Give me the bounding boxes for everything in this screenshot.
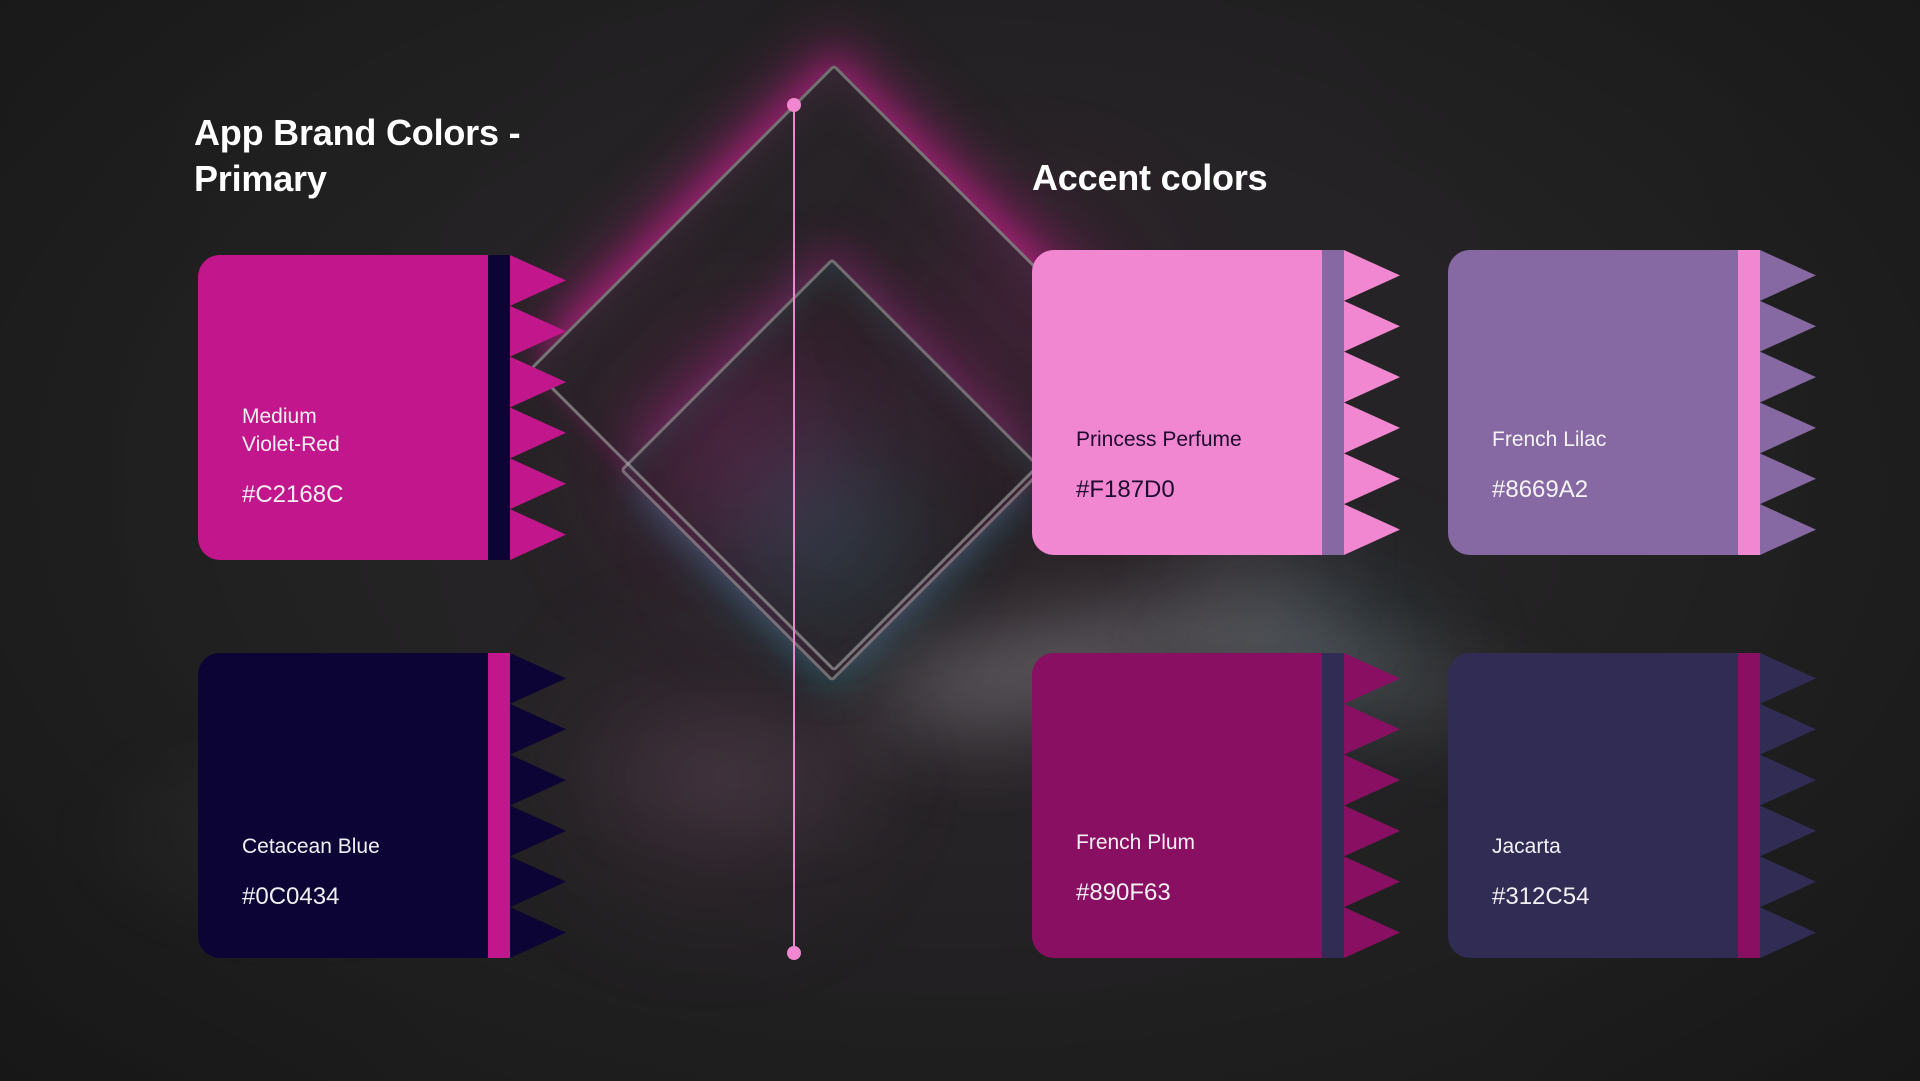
card-body	[1032, 250, 1322, 555]
color-hex: #890F63	[1076, 880, 1326, 906]
card-body	[1448, 250, 1738, 555]
section-title-primary: App Brand Colors - Primary	[194, 110, 624, 201]
color-name: Jacarta	[1492, 833, 1742, 862]
card-text: Medium Violet-Red #C2168C	[242, 403, 492, 508]
card-accent-stripe	[1322, 653, 1344, 958]
color-name: Princess Perfume	[1076, 426, 1326, 455]
smoke-wisp-4	[560, 700, 920, 850]
card-text: French Plum #890F63	[1076, 829, 1326, 906]
color-name: Cetacean Blue	[242, 833, 492, 862]
color-hex: #8669A2	[1492, 477, 1742, 503]
color-name: Medium Violet-Red	[242, 403, 492, 460]
color-card[interactable]: Princess Perfume #F187D0	[1032, 250, 1400, 555]
card-zigzag-edge	[510, 653, 566, 958]
color-hex: #F187D0	[1076, 477, 1326, 503]
card-zigzag-edge	[1344, 653, 1400, 958]
color-name: French Plum	[1076, 829, 1326, 858]
color-name: French Lilac	[1492, 426, 1742, 455]
color-card[interactable]: Cetacean Blue #0C0434	[198, 653, 566, 958]
cyan-glow	[690, 430, 950, 630]
card-accent-stripe	[1738, 250, 1760, 555]
divider-dot-bottom-icon	[787, 946, 801, 960]
card-text: Princess Perfume #F187D0	[1076, 426, 1326, 503]
card-body	[1032, 653, 1322, 958]
card-text: Cetacean Blue #0C0434	[242, 833, 492, 910]
card-body	[1448, 653, 1738, 958]
magenta-glow-left	[560, 300, 920, 600]
divider-rule	[793, 105, 795, 953]
color-hex: #0C0434	[242, 884, 492, 910]
color-hex: #C2168C	[242, 482, 492, 508]
card-text: French Lilac #8669A2	[1492, 426, 1742, 503]
card-accent-stripe	[1738, 653, 1760, 958]
color-card[interactable]: Jacarta #312C54	[1448, 653, 1816, 958]
color-hex: #312C54	[1492, 884, 1742, 910]
color-card[interactable]: French Lilac #8669A2	[1448, 250, 1816, 555]
card-zigzag-edge	[510, 255, 566, 560]
section-title-accent: Accent colors	[1032, 155, 1452, 201]
section-divider	[787, 98, 801, 960]
card-accent-stripe	[1322, 250, 1344, 555]
card-zigzag-edge	[1760, 250, 1816, 555]
card-zigzag-edge	[1760, 653, 1816, 958]
card-accent-stripe	[488, 653, 510, 958]
card-zigzag-edge	[1344, 250, 1400, 555]
color-card[interactable]: Medium Violet-Red #C2168C	[198, 255, 566, 560]
diamond-outline-inner	[620, 258, 1044, 682]
card-text: Jacarta #312C54	[1492, 833, 1742, 910]
color-card[interactable]: French Plum #890F63	[1032, 653, 1400, 958]
card-body	[198, 653, 488, 958]
